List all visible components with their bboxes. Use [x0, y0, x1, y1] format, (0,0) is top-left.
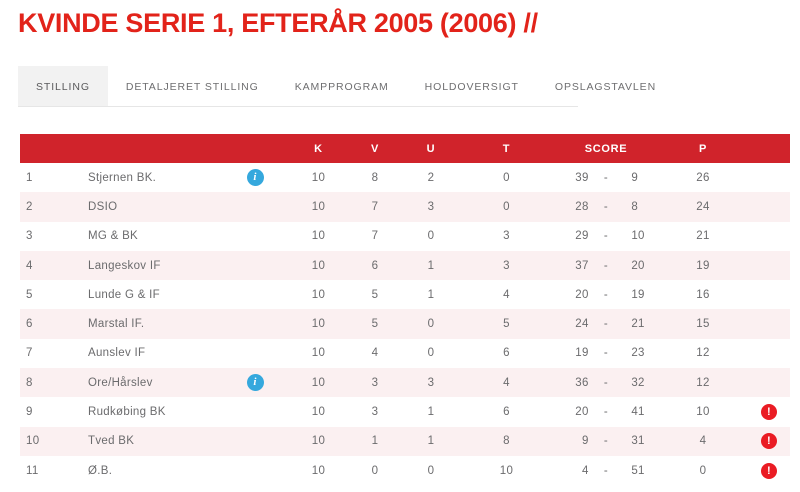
- table-row[interactable]: 11Ø.B.1000104-510!: [20, 456, 790, 485]
- row-info-cell: [220, 309, 290, 338]
- info-icon[interactable]: i: [247, 374, 264, 391]
- row-info-cell: [220, 192, 290, 221]
- row-goals-against: 20: [623, 251, 658, 280]
- row-position: 6: [20, 309, 88, 338]
- row-points: 19: [658, 251, 748, 280]
- row-losses: 0: [459, 192, 554, 221]
- row-info-cell: i: [220, 368, 290, 397]
- standings-table: K V U T SCORE P 1Stjernen BK.i1082039-92…: [20, 134, 790, 485]
- column-header-score: SCORE: [554, 134, 658, 163]
- table-row[interactable]: 5Lunde G & IF1051420-1916: [20, 280, 790, 309]
- row-team-name: MG & BK: [88, 222, 220, 251]
- row-score-separator: -: [589, 456, 624, 485]
- row-matches-played: 10: [290, 397, 347, 426]
- row-warning-cell: !: [748, 427, 790, 456]
- tab-label: OPSLAGSTAVLEN: [555, 81, 656, 93]
- warning-icon[interactable]: !: [761, 463, 777, 479]
- row-goals-against: 9: [623, 163, 658, 192]
- column-header-u: U: [403, 134, 459, 163]
- row-info-cell: [220, 397, 290, 426]
- row-losses: 5: [459, 309, 554, 338]
- row-team-name: Langeskov IF: [88, 251, 220, 280]
- row-info-cell: i: [220, 163, 290, 192]
- row-goals-against: 23: [623, 339, 658, 368]
- row-goals-against: 8: [623, 192, 658, 221]
- row-matches-played: 10: [290, 339, 347, 368]
- tab-kampprogram[interactable]: KAMPPROGRAM: [277, 66, 407, 106]
- row-draws: 1: [403, 427, 459, 456]
- row-points: 4: [658, 427, 748, 456]
- row-team-name: Aunslev IF: [88, 339, 220, 368]
- row-points: 26: [658, 163, 748, 192]
- row-points: 15: [658, 309, 748, 338]
- row-score-separator: -: [589, 339, 624, 368]
- column-header-k: K: [290, 134, 347, 163]
- row-draws: 3: [403, 192, 459, 221]
- row-position: 8: [20, 368, 88, 397]
- row-goals-for: 9: [554, 427, 589, 456]
- row-losses: 8: [459, 427, 554, 456]
- row-losses: 4: [459, 280, 554, 309]
- row-wins: 6: [347, 251, 403, 280]
- row-points: 16: [658, 280, 748, 309]
- row-score-separator: -: [589, 192, 624, 221]
- row-points: 12: [658, 368, 748, 397]
- row-goals-against: 32: [623, 368, 658, 397]
- row-score-separator: -: [589, 280, 624, 309]
- row-losses: 10: [459, 456, 554, 485]
- row-goals-for: 39: [554, 163, 589, 192]
- tab-label: HOLDOVERSIGT: [425, 81, 519, 93]
- row-score-separator: -: [589, 368, 624, 397]
- row-matches-played: 10: [290, 163, 347, 192]
- row-wins: 3: [347, 397, 403, 426]
- row-losses: 3: [459, 222, 554, 251]
- row-points: 24: [658, 192, 748, 221]
- column-header-position: [20, 134, 88, 163]
- info-icon[interactable]: i: [247, 169, 264, 186]
- row-team-name: Lunde G & IF: [88, 280, 220, 309]
- row-matches-played: 10: [290, 192, 347, 221]
- row-losses: 3: [459, 251, 554, 280]
- row-draws: 0: [403, 456, 459, 485]
- row-matches-played: 10: [290, 427, 347, 456]
- column-header-team: [88, 134, 220, 163]
- row-draws: 3: [403, 368, 459, 397]
- tab-label: DETALJERET STILLING: [126, 81, 259, 93]
- row-draws: 2: [403, 163, 459, 192]
- column-header-p: P: [658, 134, 748, 163]
- row-goals-for: 4: [554, 456, 589, 485]
- table-row[interactable]: 8Ore/Hårslevi1033436-3212: [20, 368, 790, 397]
- row-info-cell: [220, 222, 290, 251]
- row-draws: 0: [403, 222, 459, 251]
- column-header-t: T: [459, 134, 554, 163]
- row-warning-cell: [748, 163, 790, 192]
- row-matches-played: 10: [290, 280, 347, 309]
- row-goals-for: 37: [554, 251, 589, 280]
- standings-table-header: K V U T SCORE P: [20, 134, 790, 163]
- row-goals-for: 19: [554, 339, 589, 368]
- row-goals-against: 31: [623, 427, 658, 456]
- row-points: 21: [658, 222, 748, 251]
- row-wins: 5: [347, 280, 403, 309]
- row-position: 10: [20, 427, 88, 456]
- table-row[interactable]: 2DSIO1073028-824: [20, 192, 790, 221]
- row-goals-against: 41: [623, 397, 658, 426]
- row-team-name: DSIO: [88, 192, 220, 221]
- row-position: 4: [20, 251, 88, 280]
- row-score-separator: -: [589, 427, 624, 456]
- row-wins: 7: [347, 192, 403, 221]
- tab-bar: STILLINGDETALJERET STILLINGKAMPPROGRAMHO…: [18, 66, 578, 107]
- column-header-v: V: [347, 134, 403, 163]
- standings-table-body: 1Stjernen BK.i1082039-9262DSIO1073028-82…: [20, 163, 790, 485]
- row-goals-for: 20: [554, 280, 589, 309]
- row-wins: 4: [347, 339, 403, 368]
- row-warning-cell: !: [748, 397, 790, 426]
- row-info-cell: [220, 251, 290, 280]
- row-points: 12: [658, 339, 748, 368]
- row-warning-cell: [748, 251, 790, 280]
- row-losses: 0: [459, 163, 554, 192]
- row-goals-against: 51: [623, 456, 658, 485]
- row-wins: 5: [347, 309, 403, 338]
- tab-label: STILLING: [36, 81, 90, 93]
- table-row[interactable]: 6Marstal IF.1050524-2115: [20, 309, 790, 338]
- row-goals-for: 24: [554, 309, 589, 338]
- row-warning-cell: [748, 222, 790, 251]
- table-row[interactable]: 1Stjernen BK.i1082039-926: [20, 163, 790, 192]
- row-position: 9: [20, 397, 88, 426]
- tab-holdoversigt[interactable]: HOLDOVERSIGT: [407, 66, 537, 106]
- table-row[interactable]: 9Rudkøbing BK1031620-4110!: [20, 397, 790, 426]
- row-wins: 0: [347, 456, 403, 485]
- row-matches-played: 10: [290, 251, 347, 280]
- row-draws: 0: [403, 339, 459, 368]
- row-matches-played: 10: [290, 309, 347, 338]
- row-position: 3: [20, 222, 88, 251]
- row-info-cell: [220, 427, 290, 456]
- warning-icon[interactable]: !: [761, 404, 777, 420]
- tab-detaljeret-stilling[interactable]: DETALJERET STILLING: [108, 66, 277, 106]
- row-goals-against: 19: [623, 280, 658, 309]
- table-row[interactable]: 10Tved BK101189-314!: [20, 427, 790, 456]
- row-warning-cell: [748, 368, 790, 397]
- row-team-name: Tved BK: [88, 427, 220, 456]
- column-header-info: [220, 134, 290, 163]
- row-position: 2: [20, 192, 88, 221]
- row-team-name: Rudkøbing BK: [88, 397, 220, 426]
- tab-opslagstavlen[interactable]: OPSLAGSTAVLEN: [537, 66, 674, 106]
- row-position: 7: [20, 339, 88, 368]
- warning-icon[interactable]: !: [761, 433, 777, 449]
- table-row[interactable]: 7Aunslev IF1040619-2312: [20, 339, 790, 368]
- row-wins: 1: [347, 427, 403, 456]
- row-warning-cell: [748, 280, 790, 309]
- table-header-row: K V U T SCORE P: [20, 134, 790, 163]
- row-matches-played: 10: [290, 456, 347, 485]
- row-draws: 1: [403, 280, 459, 309]
- row-draws: 1: [403, 251, 459, 280]
- row-score-separator: -: [589, 251, 624, 280]
- row-draws: 0: [403, 309, 459, 338]
- row-team-name: Ore/Hårslev: [88, 368, 220, 397]
- row-losses: 4: [459, 368, 554, 397]
- table-row[interactable]: 3MG & BK1070329-1021: [20, 222, 790, 251]
- row-position: 1: [20, 163, 88, 192]
- row-goals-against: 10: [623, 222, 658, 251]
- row-points: 0: [658, 456, 748, 485]
- row-goals-for: 28: [554, 192, 589, 221]
- row-losses: 6: [459, 339, 554, 368]
- page-title: KVINDE SERIE 1, EFTERÅR 2005 (2006) //: [18, 8, 538, 39]
- table-row[interactable]: 4Langeskov IF1061337-2019: [20, 251, 790, 280]
- row-losses: 6: [459, 397, 554, 426]
- row-warning-cell: [748, 309, 790, 338]
- column-header-warning: [748, 134, 790, 163]
- row-info-cell: [220, 456, 290, 485]
- row-matches-played: 10: [290, 368, 347, 397]
- standings-page: KVINDE SERIE 1, EFTERÅR 2005 (2006) // S…: [0, 0, 800, 492]
- row-position: 11: [20, 456, 88, 485]
- row-score-separator: -: [589, 222, 624, 251]
- row-wins: 7: [347, 222, 403, 251]
- row-goals-against: 21: [623, 309, 658, 338]
- row-wins: 8: [347, 163, 403, 192]
- row-info-cell: [220, 339, 290, 368]
- row-team-name: Ø.B.: [88, 456, 220, 485]
- row-draws: 1: [403, 397, 459, 426]
- row-goals-for: 36: [554, 368, 589, 397]
- row-team-name: Marstal IF.: [88, 309, 220, 338]
- row-score-separator: -: [589, 309, 624, 338]
- row-matches-played: 10: [290, 222, 347, 251]
- row-points: 10: [658, 397, 748, 426]
- row-warning-cell: !: [748, 456, 790, 485]
- tab-label: KAMPPROGRAM: [295, 81, 389, 93]
- row-score-separator: -: [589, 163, 624, 192]
- tab-stilling[interactable]: STILLING: [18, 66, 108, 106]
- row-position: 5: [20, 280, 88, 309]
- row-team-name: Stjernen BK.: [88, 163, 220, 192]
- row-warning-cell: [748, 192, 790, 221]
- row-score-separator: -: [589, 397, 624, 426]
- row-wins: 3: [347, 368, 403, 397]
- row-warning-cell: [748, 339, 790, 368]
- row-info-cell: [220, 280, 290, 309]
- row-goals-for: 20: [554, 397, 589, 426]
- row-goals-for: 29: [554, 222, 589, 251]
